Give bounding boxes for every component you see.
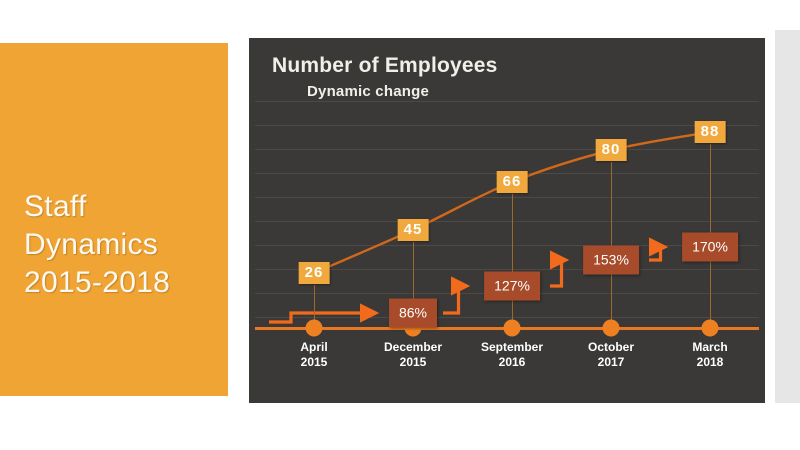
employee-count-badge[interactable]: 88 <box>695 121 726 143</box>
percent-change-box[interactable]: 127% <box>484 272 540 301</box>
chart-plot-area: 26April 20154586%December 201566127%Sept… <box>249 38 765 403</box>
x-axis-category-label: December 2015 <box>384 340 442 370</box>
employee-count-badge[interactable]: 26 <box>299 262 330 284</box>
slide-title: Staff Dynamics 2015-2018 <box>24 188 224 302</box>
axis-marker-dot[interactable] <box>702 320 719 337</box>
chart-panel: Number of Employees Dynamic change 26Apr… <box>249 38 765 403</box>
slide-canvas: Staff Dynamics 2015-2018 Number of Emplo… <box>0 0 800 450</box>
right-side-strip <box>775 30 800 403</box>
percent-change-box[interactable]: 153% <box>583 246 639 275</box>
axis-marker-dot[interactable] <box>603 320 620 337</box>
employee-count-badge[interactable]: 80 <box>596 139 627 161</box>
x-axis-category-label: April 2015 <box>300 340 327 370</box>
title-block: Staff Dynamics 2015-2018 <box>0 43 228 396</box>
percent-change-box[interactable]: 170% <box>682 233 738 262</box>
employee-count-badge[interactable]: 45 <box>398 219 429 241</box>
x-axis-category-label: October 2017 <box>588 340 634 370</box>
percent-change-box[interactable]: 86% <box>389 299 437 328</box>
x-axis-category-label: March 2018 <box>692 340 727 370</box>
axis-marker-dot[interactable] <box>504 320 521 337</box>
axis-marker-dot[interactable] <box>306 320 323 337</box>
value-connector-line <box>512 194 513 328</box>
x-axis-category-label: September 2016 <box>481 340 543 370</box>
employee-count-badge[interactable]: 66 <box>497 171 528 193</box>
